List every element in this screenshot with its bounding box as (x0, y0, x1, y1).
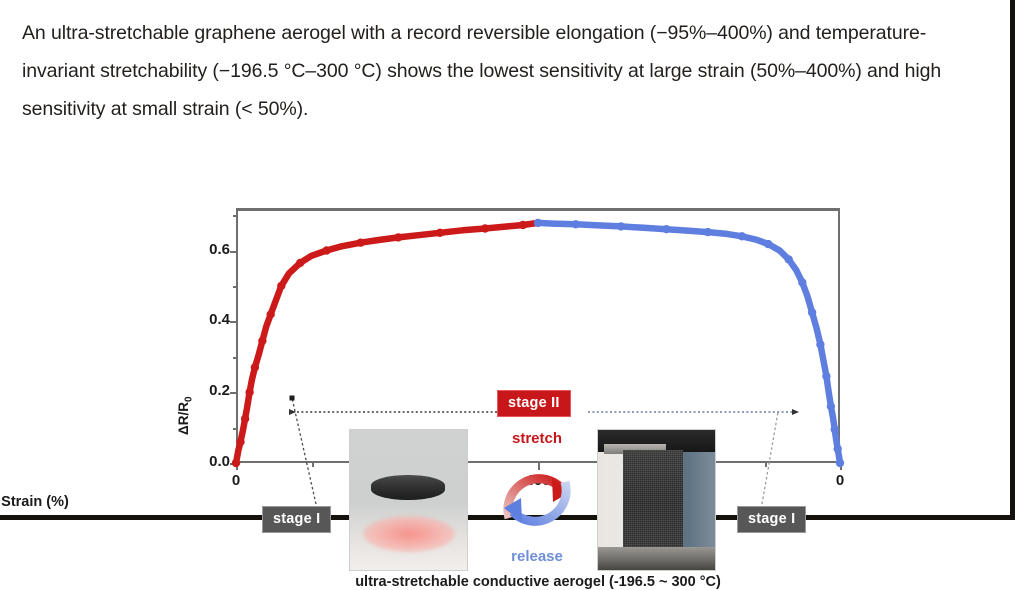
release-label: release (487, 548, 587, 565)
x-tick-mark (840, 463, 842, 470)
stage-two-badge: stage II (497, 390, 571, 417)
stretched-aerogel-column-photo (597, 429, 716, 571)
rig-bottom-grip (598, 547, 716, 570)
x-tick-label: 0 (206, 472, 266, 489)
y-tick-label: 0.2 (184, 382, 230, 399)
x-tick-label: 0 (810, 472, 870, 489)
inset-caption: ultra-stretchable conductive aerogel (-1… (236, 574, 840, 590)
x-axis-title-text: Strain (%) (1, 494, 69, 510)
x-minor-tick-mark (765, 463, 767, 467)
pink-glow-shape (363, 516, 455, 552)
page-container: An ultra-stretchable graphene aerogel wi… (0, 0, 1015, 520)
x-tick-mark (236, 463, 238, 470)
aerogel-disc-photo (349, 429, 468, 571)
figure-panel: ΔR/R0 0.00.20.40.6 02004002000 Strain (%… (0, 150, 1010, 515)
y-tick-label: 0.0 (184, 453, 230, 470)
stretch-label: stretch (487, 430, 587, 447)
y-axis-labels: 0.00.20.40.6 (182, 150, 230, 515)
plot-area (236, 208, 840, 463)
page-caption: An ultra-stretchable graphene aerogel wi… (22, 14, 984, 128)
aerogel-disc-shape (371, 475, 445, 500)
y-tick-label: 0.6 (184, 241, 230, 258)
x-minor-tick-mark (312, 463, 314, 467)
stretch-release-cycle: stretch release (487, 430, 587, 570)
aerogel-column-shape (623, 450, 683, 553)
cycle-arrows-icon (495, 452, 579, 548)
y-tick-label: 0.4 (184, 311, 230, 328)
